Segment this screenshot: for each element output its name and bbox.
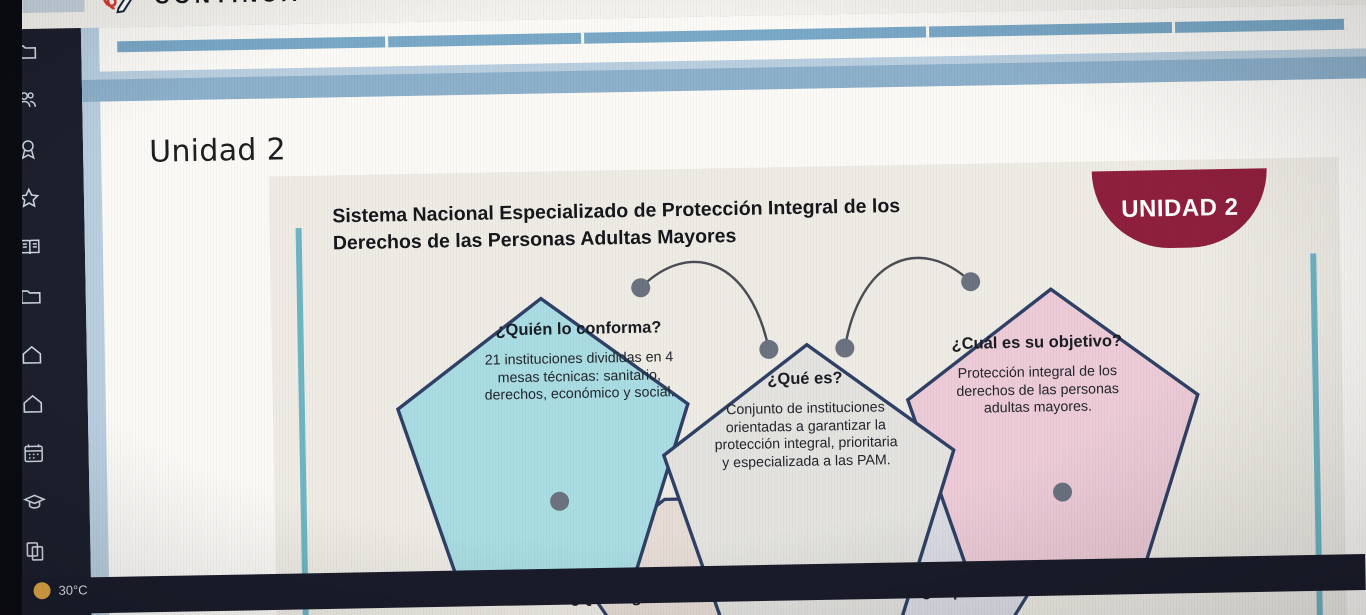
progress-bar[interactable] xyxy=(117,19,1347,53)
brand-logo[interactable]: CONTINUA xyxy=(100,0,301,15)
hamburger-icon[interactable] xyxy=(22,0,85,13)
calendar-icon xyxy=(21,441,46,470)
content-area: Unidad 2 Sistema Nacional Especializado … xyxy=(81,4,1366,615)
node-label-quien: ¿Quién lo conforma? 21 instituciones div… xyxy=(473,317,685,406)
graduation-cap-icon xyxy=(22,490,47,519)
swoosh-pencil-icon xyxy=(100,0,145,14)
node-heading: ¿Quién lo conforma? xyxy=(473,317,683,341)
progress-segment xyxy=(929,22,1175,38)
home-icon xyxy=(20,343,45,372)
node-heading: ¿Qué es? xyxy=(712,367,897,391)
slide-image: Sistema Nacional Especializado de Protec… xyxy=(269,157,1347,615)
weather-widget[interactable]: 30°C xyxy=(33,581,87,599)
page-title: Unidad 2 xyxy=(149,132,286,170)
screen-bezel xyxy=(0,0,22,615)
node-body: 21 instituciones divididas en 4 mesas té… xyxy=(474,349,685,407)
node-body: Conjunto de instituciones orientadas a g… xyxy=(713,399,899,474)
home-icon xyxy=(21,392,46,421)
progress-segment xyxy=(388,33,585,48)
weather-temp: 30°C xyxy=(58,582,87,598)
browser-page: CONTINUA xyxy=(0,0,1366,615)
screen-photo: CONTINUA xyxy=(0,0,1366,615)
folder-icon xyxy=(19,284,44,313)
node-label-quees: ¿Qué es? Conjunto de instituciones orien… xyxy=(712,367,899,474)
node-label-objetivo: ¿Cuál es su objetivo? Protección integra… xyxy=(932,331,1144,420)
copy-pages-icon xyxy=(23,539,48,568)
connector-dot xyxy=(835,338,854,357)
progress-segment xyxy=(1175,19,1347,33)
sun-icon xyxy=(33,582,50,599)
progress-segment xyxy=(117,36,388,52)
brand-name: CONTINUA xyxy=(154,0,301,10)
node-heading: ¿Cuál es su objetivo? xyxy=(932,331,1142,355)
connector-dot xyxy=(759,340,778,359)
progress-segment xyxy=(584,26,929,43)
node-body: Protección integral de los derechos de l… xyxy=(932,362,1143,420)
